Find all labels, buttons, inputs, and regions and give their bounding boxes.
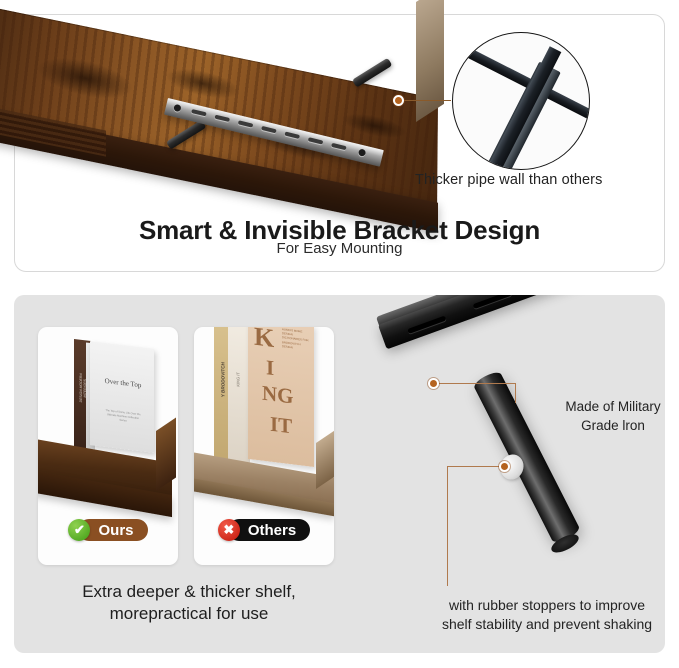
book-letter-ng: NG [262,381,294,410]
callout-dot-icon [499,461,510,472]
magnifier-circle-icon [452,32,590,170]
book-cover-note: ALWAYS MORE DESIGN DICTIONARIES FOR BROD… [282,327,310,351]
black-steel-tube-icon [472,369,581,545]
material-caption-line1: Made of Military [552,398,674,417]
thicker-pipe-caption: Thicker pipe wall than others [415,172,655,188]
badge-ours: ✔ Ours [38,519,178,541]
plate-slot [407,316,446,334]
t-bracket-photo [354,295,665,587]
book-spine-light: KING IT [228,327,250,462]
stopper-caption-line2: shelf stability and prevent shaking [418,615,676,634]
book-cover-white: Over the Top The Top of Some Life Over t… [90,341,154,453]
material-caption-line2: Grade lron [552,417,674,436]
callout-leader-line [403,100,451,101]
comparison-caption-line1: Extra deeper & thicker shelf, [24,581,354,603]
book-title-text: Over the Top [100,376,146,390]
material-leader-line [438,383,516,384]
rustic-wood-shelf-icon [0,6,466,216]
callout-dot-icon [428,378,439,389]
badge-others: ✖ Others [194,519,334,541]
stopper-caption: with rubber stoppers to improve shelf st… [418,596,676,634]
stopper-caption-line1: with rubber stoppers to improve [418,596,676,615]
comparison-card-ours: DESIGN MODERN INTERIORS ART OF THE TOP O… [38,327,178,565]
shelf-end-cap [416,0,444,122]
book-spine-kraft-text: Y BRODOVITCH [221,344,226,415]
plate-slot [473,295,512,309]
material-caption: Made of Military Grade lron [552,398,674,436]
material-leader-line [515,383,516,403]
callout-dot-icon [393,95,404,106]
stopper-leader-line [447,466,448,586]
thick-shelf-side [156,418,176,491]
comparison-caption-line2: morepractical for use [24,603,354,625]
book-cover-kraft: K ALWAYS MORE DESIGN DICTIONARIES FOR BR… [248,327,314,467]
book-letter-k: K [254,327,274,354]
comparison-cards: DESIGN MODERN INTERIORS ART OF THE TOP O… [38,327,338,567]
page-subtitle: For Easy Mounting [0,240,679,257]
stopper-leader-line [447,466,501,467]
book-spine-light-text: KING IT [236,349,241,410]
book-letter-i: I [266,355,274,381]
top-product-scene: Thicker pipe wall than others Smart & In… [0,0,679,280]
cross-circle-icon: ✖ [218,519,240,541]
book-letter-it: IT [270,412,292,440]
badge-others-label: Others [228,519,310,541]
infographic-stage: Thicker pipe wall than others Smart & In… [0,0,679,668]
comparison-caption: Extra deeper & thicker shelf, morepracti… [24,581,354,626]
book-subtitle-text: The Top of Some Life Over the Ultimate M… [104,409,142,425]
comparison-card-others: Y BRODOVITCH KING IT K ALWAYS MORE DESIG… [194,327,334,565]
